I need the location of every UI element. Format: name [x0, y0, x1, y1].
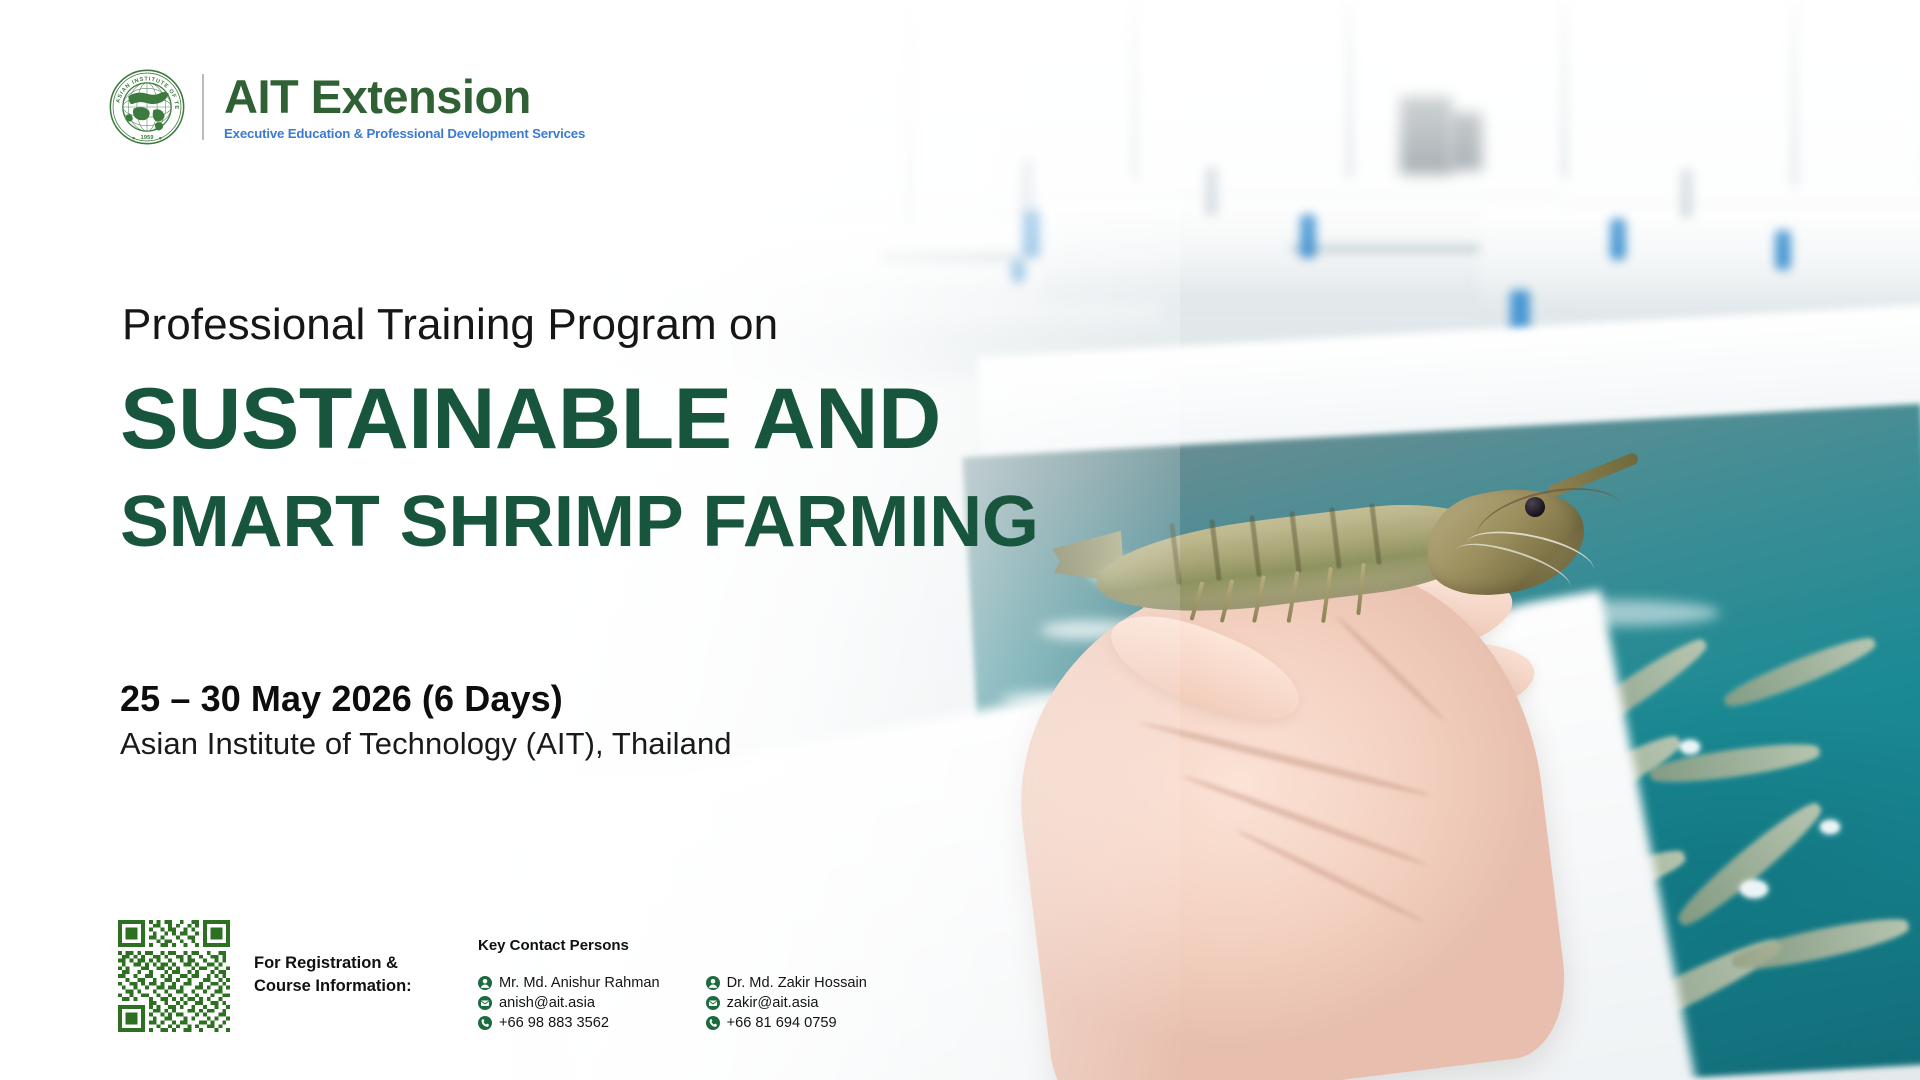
brand-name: AIT Extension	[224, 73, 585, 121]
contact-phone-row[interactable]: +66 81 694 0759	[706, 1015, 867, 1031]
envelope-circle-icon	[706, 996, 720, 1010]
contacts-heading: Key Contact Persons	[478, 937, 629, 954]
program-title-line1: SUSTAINABLE AND	[120, 376, 941, 462]
registration-label: For Registration & Course Information:	[254, 952, 412, 998]
logo-divider	[202, 74, 204, 140]
program-title-line2: SMART SHRIMP FARMING	[120, 486, 1039, 558]
contact-phone: +66 81 694 0759	[727, 1015, 837, 1031]
contact-email: anish@ait.asia	[499, 995, 595, 1011]
contact-card: Dr. Md. Zakir Hossain zakir@ait.asia	[706, 975, 867, 1031]
contact-email-row[interactable]: anish@ait.asia	[478, 995, 660, 1011]
registration-label-line1: For Registration &	[254, 954, 398, 972]
person-circle-icon	[706, 976, 720, 990]
ait-extension-logo[interactable]: ASIAN INSTITUTE OF TECHNOLOGY 1959 AIT E…	[108, 68, 585, 146]
phone-circle-icon	[478, 1016, 492, 1030]
person-circle-icon	[478, 976, 492, 990]
event-venue: Asian Institute of Technology (AIT), Tha…	[120, 726, 732, 762]
phone-circle-icon	[706, 1016, 720, 1030]
contact-email: zakir@ait.asia	[727, 995, 819, 1011]
contact-name-row: Dr. Md. Zakir Hossain	[706, 975, 867, 991]
program-kicker: Professional Training Program on	[122, 300, 778, 350]
contact-phone-row[interactable]: +66 98 883 3562	[478, 1015, 660, 1031]
contact-card: Mr. Md. Anishur Rahman anish@ait.asia	[478, 975, 660, 1031]
qr-code-icon[interactable]	[118, 920, 230, 1032]
contact-name: Mr. Md. Anishur Rahman	[499, 975, 660, 991]
contact-name: Dr. Md. Zakir Hossain	[727, 975, 867, 991]
registration-label-line2: Course Information:	[254, 977, 412, 995]
contact-phone: +66 98 883 3562	[499, 1015, 609, 1031]
svg-text:1959: 1959	[140, 135, 154, 141]
envelope-circle-icon	[478, 996, 492, 1010]
training-program-poster: ASIAN INSTITUTE OF TECHNOLOGY 1959 AIT E…	[0, 0, 1920, 1080]
event-dates: 25 – 30 May 2026 (6 Days)	[120, 678, 563, 720]
ait-globe-emblem-icon: ASIAN INSTITUTE OF TECHNOLOGY 1959	[108, 68, 186, 146]
brand-tagline: Executive Education & Professional Devel…	[224, 126, 585, 141]
contact-name-row: Mr. Md. Anishur Rahman	[478, 975, 660, 991]
contacts-list: Mr. Md. Anishur Rahman anish@ait.asia	[478, 975, 867, 1031]
contact-email-row[interactable]: zakir@ait.asia	[706, 995, 867, 1011]
